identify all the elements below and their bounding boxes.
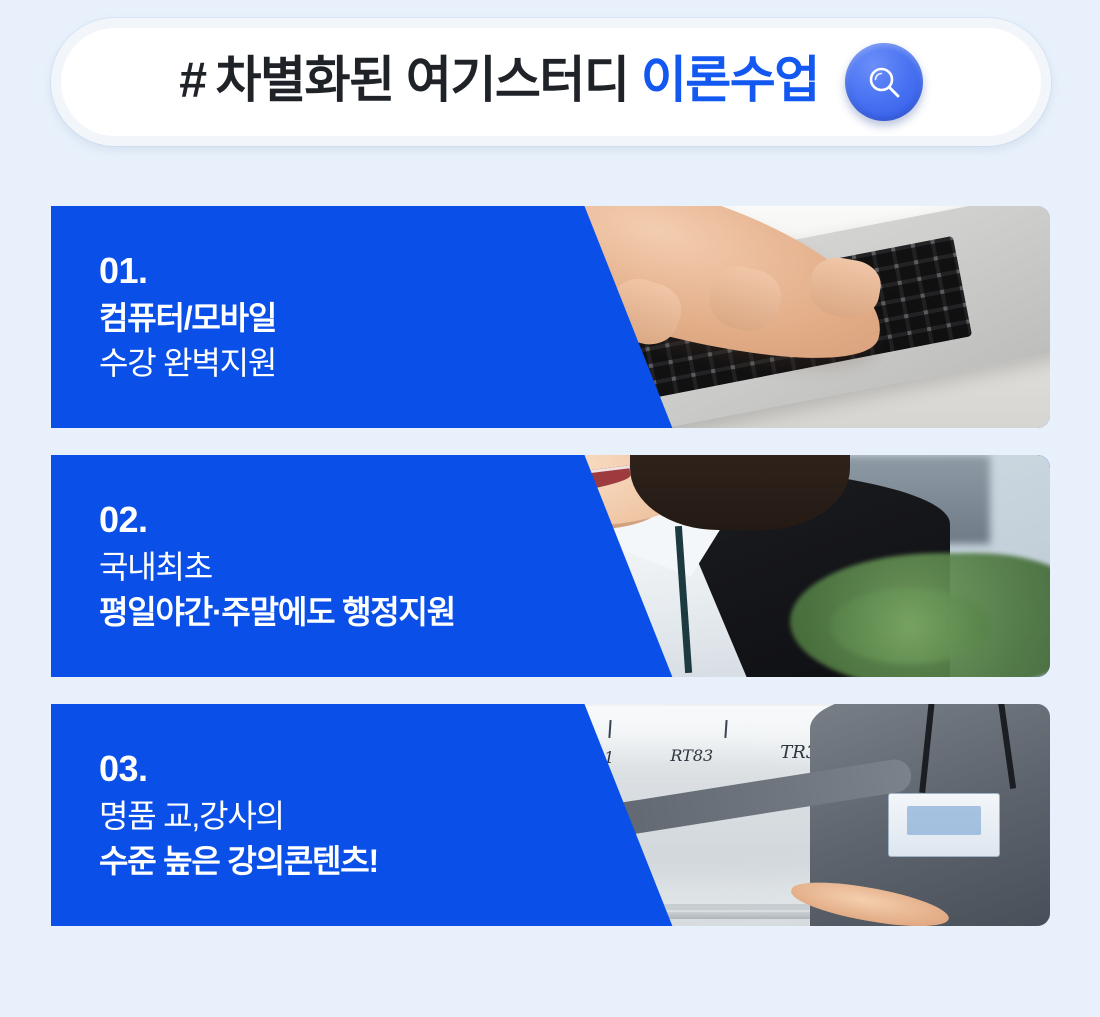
card-number: 03. xyxy=(99,746,378,792)
page-title-plain: 차별화된 여기스터디 xyxy=(216,52,629,108)
card-line-primary: 국내최초 xyxy=(99,545,455,590)
header-search-pill[interactable]: #차별화된 여기스터디 이론수업 xyxy=(51,18,1051,146)
page-title: #차별화된 여기스터디 이론수업 xyxy=(179,55,819,109)
feature-card-list: 01. 컴퓨터/모바일 수강 완벽지원 xyxy=(51,206,1050,926)
card-line-secondary: 수준 높은 강의콘텐츠! xyxy=(99,839,378,884)
card-number: 01. xyxy=(99,248,276,294)
card-line-secondary: 수강 완벽지원 xyxy=(99,341,276,386)
whiteboard-label-3: RT83 xyxy=(670,746,713,765)
card-line-primary: 명품 교,강사의 xyxy=(99,794,378,839)
feature-card-03[interactable]: EM-2 RT81 EM-1 RT83 TR31 CHARACTERISTICS… xyxy=(51,704,1050,926)
card-number: 02. xyxy=(99,497,455,543)
card-text-01: 01. 컴퓨터/모바일 수강 완벽지원 xyxy=(99,206,276,428)
search-button[interactable] xyxy=(845,43,923,121)
page-title-accent: 이론수업 xyxy=(641,52,819,108)
card-line-secondary: 평일야간·주말에도 행정지원 xyxy=(99,590,455,635)
card-line-primary: 컴퓨터/모바일 xyxy=(99,296,276,341)
card-text-02: 02. 국내최초 평일야간·주말에도 행정지원 xyxy=(99,455,455,677)
card-text-03: 03. 명품 교,강사의 수준 높은 강의콘텐츠! xyxy=(99,704,378,926)
feature-card-02[interactable]: 02. 국내최초 평일야간·주말에도 행정지원 xyxy=(51,455,1050,677)
search-icon xyxy=(864,62,904,102)
page-header: #차별화된 여기스터디 이론수업 xyxy=(51,18,1051,146)
hash-symbol: # xyxy=(179,52,205,108)
feature-card-01[interactable]: 01. 컴퓨터/모바일 수강 완벽지원 xyxy=(51,206,1050,428)
